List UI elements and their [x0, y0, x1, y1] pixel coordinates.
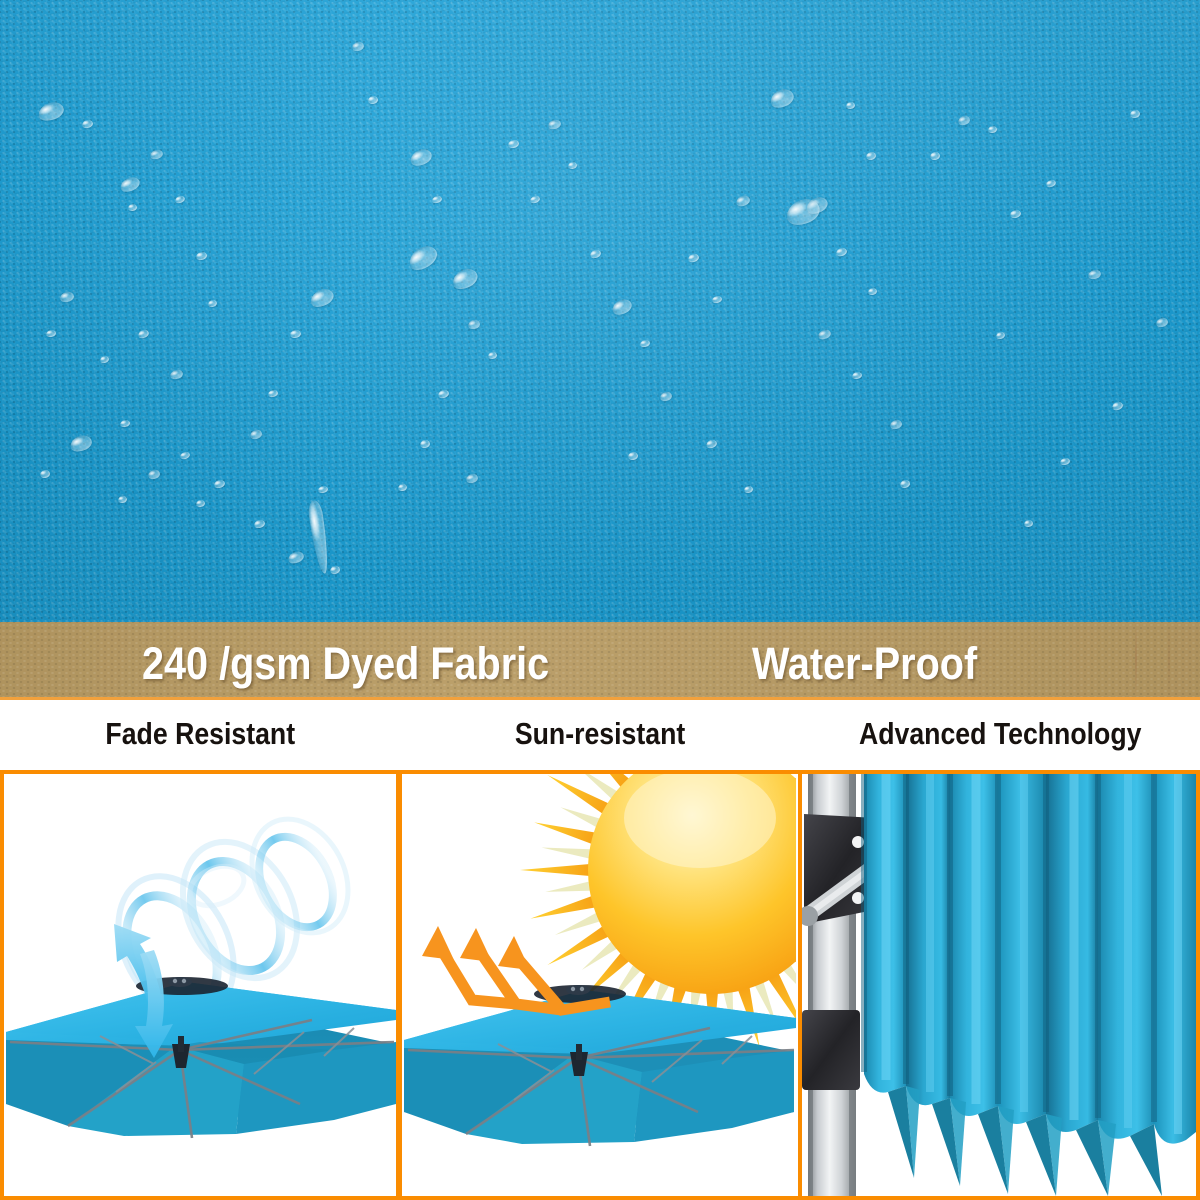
folded-canopy-illustration [802, 774, 1196, 1196]
velcro-strap [802, 1010, 860, 1090]
folded-canopy-flutes [864, 774, 1196, 1196]
feature-heading-label: Sun-resistant [515, 718, 685, 749]
umbrella-wind-illustration [4, 774, 396, 1196]
feature-panel-sun-resistant [400, 770, 800, 1200]
feature-heading-sun-resistant: Sun-resistant [400, 697, 800, 770]
feature-panel-advanced-technology [800, 770, 1200, 1200]
umbrella-sun-illustration [402, 774, 796, 1196]
feature-heading-advanced-technology: Advanced Technology [800, 697, 1200, 770]
uv-arrow-heads [422, 926, 530, 970]
fabric-spec-banner: 240 /gsm Dyed Fabric Water-Proof [0, 622, 1200, 697]
feature-heading-label: Advanced Technology [859, 718, 1141, 749]
feature-heading-label: Fade Resistant [105, 718, 295, 749]
fabric-weight-label: 240 /gsm Dyed Fabric [142, 641, 549, 686]
product-infographic: 240 /gsm Dyed Fabric Water-Proof Fade Re… [0, 0, 1200, 1200]
feature-heading-row: Fade Resistant Sun-resistant Advanced Te… [0, 697, 1200, 770]
water-proof-label: Water-Proof [752, 641, 977, 686]
feature-panel-fade-resistant [0, 770, 400, 1200]
feature-panel-row [0, 770, 1200, 1200]
waterproof-fabric-photo [0, 0, 1200, 622]
fabric-lighting-overlay [0, 0, 1200, 622]
feature-heading-fade-resistant: Fade Resistant [0, 697, 400, 770]
